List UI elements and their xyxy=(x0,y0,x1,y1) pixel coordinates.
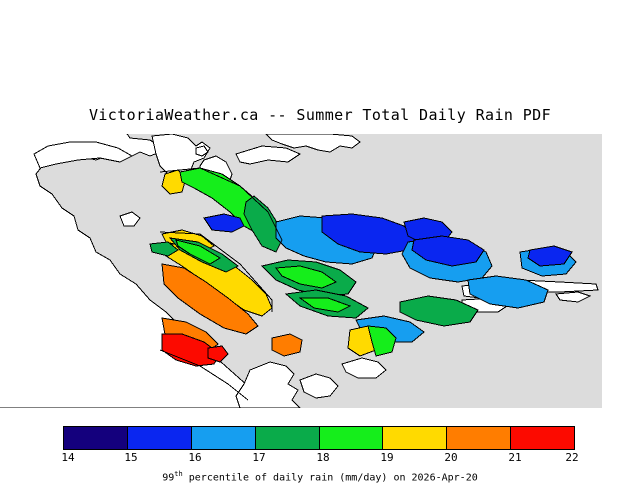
colorbar-tick-labels: 14 15 16 17 18 19 20 21 22 xyxy=(0,451,640,467)
colorbar-tick-21: 21 xyxy=(508,451,521,464)
map-panel[interactable] xyxy=(0,134,602,408)
colorbar[interactable] xyxy=(63,426,575,450)
colorbar-tick-18: 18 xyxy=(316,451,329,464)
colorbar-tick-15: 15 xyxy=(124,451,137,464)
colorbar-tick-22: 22 xyxy=(565,451,578,464)
colorbar-segment-21-22[interactable] xyxy=(511,427,574,449)
colorbar-tick-17: 17 xyxy=(252,451,265,464)
colorbar-area: 14 15 16 17 18 19 20 21 22 99th percenti… xyxy=(0,420,640,480)
weather-map-figure: VictoriaWeather.ca -- Summer Total Daily… xyxy=(0,0,640,480)
colorbar-segment-14-15[interactable] xyxy=(64,427,128,449)
colorbar-segment-18-19[interactable] xyxy=(320,427,384,449)
region-small-island-orange xyxy=(272,334,302,356)
colorbar-caption-prefix: 99 xyxy=(162,472,174,483)
colorbar-tick-14: 14 xyxy=(61,451,74,464)
figure-title: VictoriaWeather.ca -- Summer Total Daily… xyxy=(0,106,640,124)
colorbar-segment-17-18[interactable] xyxy=(256,427,320,449)
colorbar-caption: 99th percentile of daily rain (mm/day) o… xyxy=(0,470,640,483)
colorbar-tick-19: 19 xyxy=(380,451,393,464)
colorbar-segment-15-16[interactable] xyxy=(128,427,192,449)
colorbar-tick-20: 20 xyxy=(444,451,457,464)
colorbar-caption-superscript: th xyxy=(174,470,182,478)
colorbar-segment-19-20[interactable] xyxy=(383,427,447,449)
colorbar-segment-20-21[interactable] xyxy=(447,427,511,449)
colorbar-caption-rest: percentile of daily rain (mm/day) on 202… xyxy=(183,472,478,483)
colorbar-tick-16: 16 xyxy=(188,451,201,464)
colorbar-segment-16-17[interactable] xyxy=(192,427,256,449)
map-svg xyxy=(0,134,602,408)
